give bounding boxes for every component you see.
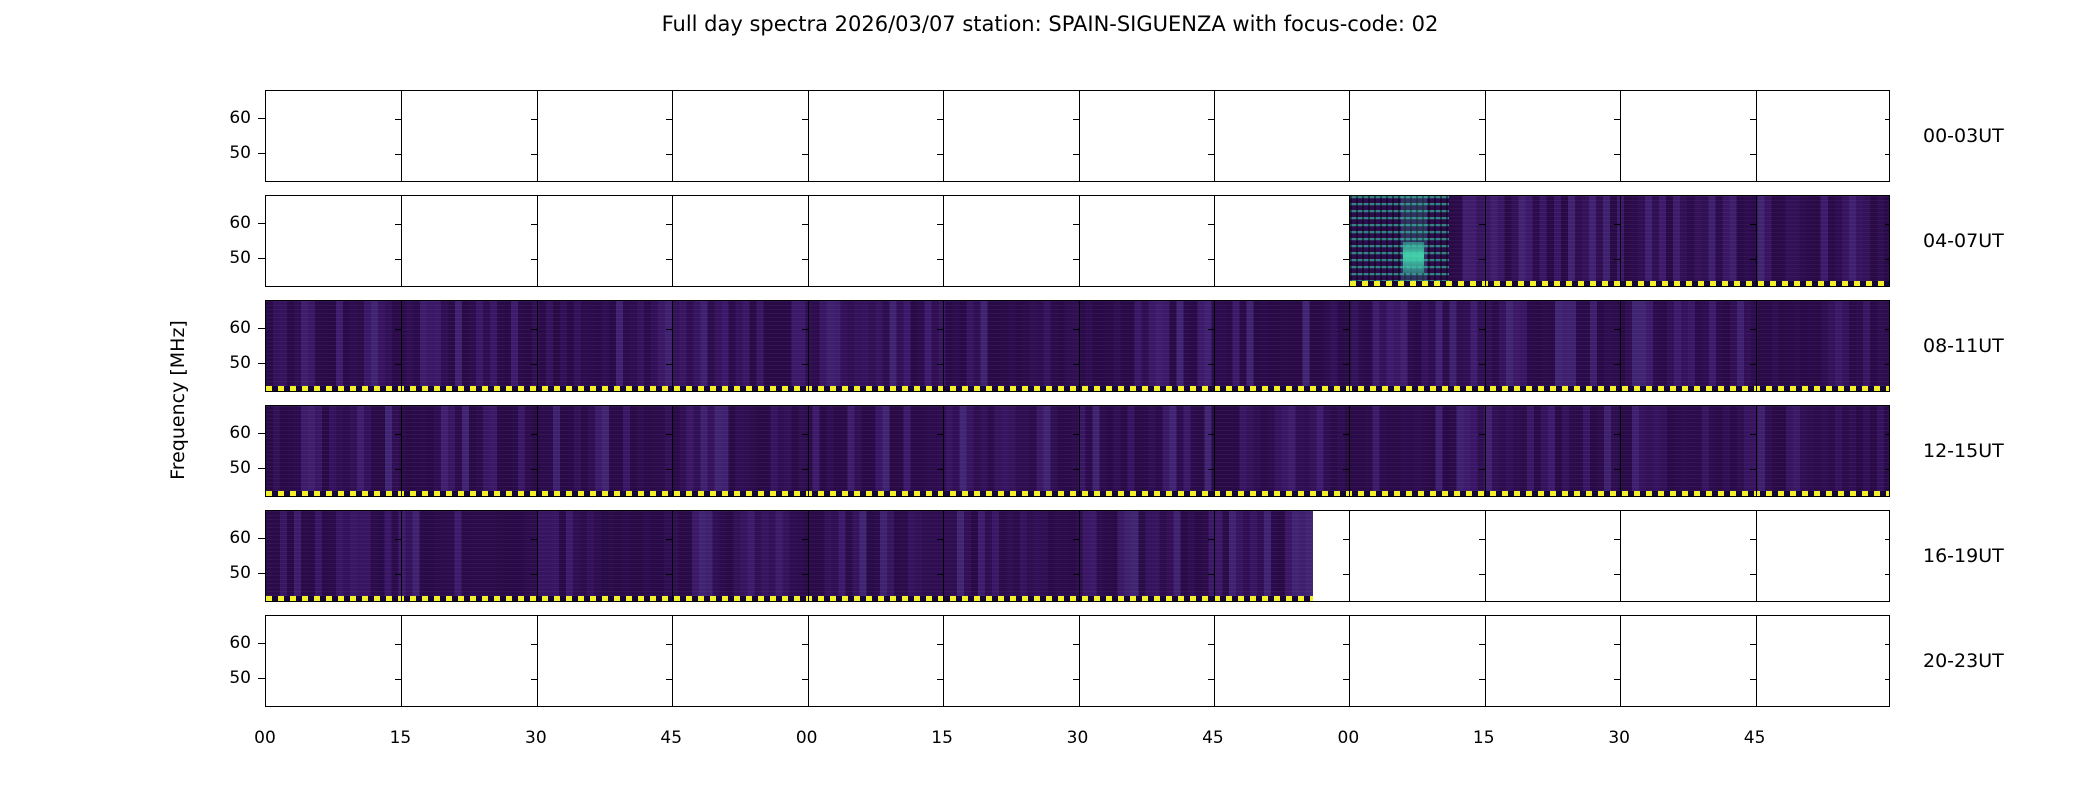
y-tick-mark xyxy=(666,574,672,575)
subpanel-divider xyxy=(808,91,809,182)
y-tick-mark xyxy=(1479,574,1485,575)
x-tick-label: 15 xyxy=(1473,728,1495,748)
y-tick-mark xyxy=(1479,154,1485,155)
row-frame xyxy=(265,510,1890,602)
y-tick-mark xyxy=(1614,469,1620,470)
y-tick-mark xyxy=(531,259,537,260)
x-tick-label: 15 xyxy=(390,728,412,748)
y-tick-mark xyxy=(1885,434,1890,435)
spectrogram-row-00-03ut[interactable] xyxy=(265,90,1890,182)
x-tick-label: 15 xyxy=(931,728,953,748)
spectrogram-row-16-19ut[interactable] xyxy=(265,510,1890,602)
y-tick-mark xyxy=(937,434,943,435)
y-tick-mark xyxy=(666,259,672,260)
subpanel-divider xyxy=(672,301,673,392)
y-tick-label: 60 xyxy=(203,108,251,128)
page-title: Full day spectra 2026/03/07 station: SPA… xyxy=(0,12,2100,36)
subpanel-divider xyxy=(1079,511,1080,602)
subpanel-divider xyxy=(401,511,402,602)
y-tick-mark xyxy=(802,329,808,330)
row-label-12-15ut: 12-15UT xyxy=(1923,440,2004,462)
y-tick-mark xyxy=(395,644,401,645)
subpanel-divider xyxy=(1349,406,1350,497)
spectrogram-row-12-15ut[interactable] xyxy=(265,405,1890,497)
y-tick-mark xyxy=(1750,224,1756,225)
y-tick-mark xyxy=(666,224,672,225)
y-tick-mark xyxy=(1073,539,1079,540)
y-tick-mark xyxy=(802,539,808,540)
y-tick-mark xyxy=(1479,259,1485,260)
row-frame xyxy=(265,90,1890,182)
x-tick-label: 00 xyxy=(796,728,818,748)
y-tick-mark xyxy=(1885,119,1890,120)
y-tick-mark xyxy=(395,539,401,540)
plot-area xyxy=(265,90,1890,720)
y-tick-mark xyxy=(802,259,808,260)
subpanel-divider xyxy=(808,616,809,707)
subpanel-divider xyxy=(672,511,673,602)
x-tick-label: 45 xyxy=(1202,728,1224,748)
subpanel-divider xyxy=(1349,91,1350,182)
x-tick-label: 45 xyxy=(660,728,682,748)
y-tick-mark xyxy=(1343,259,1349,260)
y-tick-mark xyxy=(1208,539,1214,540)
subpanel-divider xyxy=(401,616,402,707)
subpanel-divider xyxy=(1079,91,1080,182)
y-tick-mark xyxy=(937,224,943,225)
y-tick-mark xyxy=(1479,539,1485,540)
subpanel-divider xyxy=(1214,616,1215,707)
row-label-20-23ut: 20-23UT xyxy=(1923,650,2004,672)
y-tick-mark xyxy=(395,434,401,435)
subpanel-divider xyxy=(1079,406,1080,497)
subpanel-divider xyxy=(672,196,673,287)
y-tick-mark xyxy=(937,259,943,260)
y-tick-mark xyxy=(1614,539,1620,540)
y-tick-mark xyxy=(1208,364,1214,365)
y-tick-label: 50 xyxy=(203,248,251,268)
subpanel-divider xyxy=(808,196,809,287)
y-tick-mark xyxy=(531,469,537,470)
subpanel-divider xyxy=(1485,616,1486,707)
y-tick-mark xyxy=(1073,574,1079,575)
y-tick-mark xyxy=(1750,119,1756,120)
y-tick-mark xyxy=(1343,679,1349,680)
y-tick-mark xyxy=(1885,154,1890,155)
quality-dash-strip xyxy=(266,596,1313,602)
subpanel-divider xyxy=(1349,196,1350,287)
y-tick-mark xyxy=(531,679,537,680)
subpanel-divider xyxy=(1349,616,1350,707)
subpanel-divider xyxy=(1756,616,1757,707)
x-tick-label: 30 xyxy=(1067,728,1089,748)
y-tick-mark xyxy=(1750,329,1756,330)
y-tick-mark xyxy=(395,154,401,155)
y-tick-mark xyxy=(1750,574,1756,575)
y-tick-mark xyxy=(1073,679,1079,680)
emission-column-highlight xyxy=(1401,196,1427,287)
x-tick-label: 45 xyxy=(1744,728,1766,748)
y-tick-mark xyxy=(1750,154,1756,155)
y-tick-mark xyxy=(1750,679,1756,680)
x-tick-label: 00 xyxy=(1338,728,1360,748)
subpanel-divider xyxy=(1079,301,1080,392)
y-tick-mark xyxy=(395,679,401,680)
y-tick-mark xyxy=(1343,119,1349,120)
y-tick-mark xyxy=(1479,329,1485,330)
row-label-16-19ut: 16-19UT xyxy=(1923,545,2004,567)
y-tick-mark xyxy=(1614,644,1620,645)
row-label-08-11ut: 08-11UT xyxy=(1923,335,2004,357)
y-tick-label: 50 xyxy=(203,143,251,163)
y-tick-mark xyxy=(531,644,537,645)
y-tick-mark xyxy=(531,119,537,120)
y-tick-mark xyxy=(1750,434,1756,435)
y-tick-mark xyxy=(666,329,672,330)
y-tick-mark xyxy=(1343,224,1349,225)
y-tick-mark-outer xyxy=(258,223,265,224)
subpanel-divider xyxy=(943,406,944,497)
y-tick-mark xyxy=(1885,644,1890,645)
y-tick-mark xyxy=(1479,364,1485,365)
y-tick-mark xyxy=(937,154,943,155)
y-tick-mark xyxy=(802,469,808,470)
y-tick-label: 60 xyxy=(203,213,251,233)
y-tick-mark xyxy=(802,364,808,365)
subpanel-divider xyxy=(401,196,402,287)
y-tick-mark xyxy=(1750,364,1756,365)
y-tick-mark xyxy=(1614,154,1620,155)
row-label-04-07ut: 04-07UT xyxy=(1923,230,2004,252)
y-tick-mark xyxy=(937,574,943,575)
y-axis-label-text: Frequency [MHz] xyxy=(167,320,189,480)
subpanel-divider xyxy=(808,406,809,497)
y-tick-mark xyxy=(395,469,401,470)
y-tick-mark-outer xyxy=(258,468,265,469)
row-label-00-03ut: 00-03UT xyxy=(1923,125,2004,147)
y-tick-mark-outer xyxy=(258,328,265,329)
y-tick-mark xyxy=(1073,329,1079,330)
subpanel-divider xyxy=(1756,406,1757,497)
row-frame xyxy=(265,615,1890,707)
y-tick-mark xyxy=(1343,469,1349,470)
y-tick-mark xyxy=(666,539,672,540)
y-tick-mark xyxy=(802,434,808,435)
subpanel-divider xyxy=(808,511,809,602)
y-tick-mark xyxy=(395,259,401,260)
y-tick-mark xyxy=(1614,329,1620,330)
y-tick-mark xyxy=(937,539,943,540)
subpanel-divider xyxy=(672,91,673,182)
y-tick-mark xyxy=(1750,259,1756,260)
y-tick-mark-outer xyxy=(258,363,265,364)
y-tick-mark xyxy=(1073,154,1079,155)
subpanel-divider xyxy=(1214,301,1215,392)
subpanel-divider xyxy=(1620,196,1621,287)
y-tick-label: 60 xyxy=(203,528,251,548)
y-tick-mark xyxy=(1208,574,1214,575)
y-tick-mark xyxy=(1479,679,1485,680)
y-tick-mark xyxy=(1343,644,1349,645)
y-tick-mark xyxy=(395,364,401,365)
subpanel-divider xyxy=(1620,91,1621,182)
y-tick-mark xyxy=(531,574,537,575)
subpanel-divider xyxy=(943,511,944,602)
y-tick-mark xyxy=(1208,679,1214,680)
y-tick-mark-outer xyxy=(258,118,265,119)
y-tick-mark xyxy=(1343,329,1349,330)
subpanel-divider xyxy=(401,406,402,497)
y-tick-mark xyxy=(666,154,672,155)
y-tick-mark xyxy=(1614,679,1620,680)
subpanel-divider xyxy=(1079,616,1080,707)
subpanel-divider xyxy=(1214,511,1215,602)
y-tick-mark xyxy=(1614,259,1620,260)
y-tick-mark xyxy=(1885,574,1890,575)
interference-texture-block xyxy=(1350,196,1449,287)
subpanel-divider xyxy=(537,616,538,707)
y-tick-mark xyxy=(1073,119,1079,120)
x-tick-label: 00 xyxy=(254,728,276,748)
y-tick-mark xyxy=(1750,539,1756,540)
y-tick-mark xyxy=(1479,119,1485,120)
subpanel-divider xyxy=(1620,616,1621,707)
y-tick-mark xyxy=(1208,469,1214,470)
spectrogram-horizontal-banding xyxy=(266,511,1313,602)
y-tick-mark xyxy=(1208,224,1214,225)
y-tick-mark xyxy=(937,469,943,470)
y-tick-mark xyxy=(1885,539,1890,540)
y-tick-mark xyxy=(1073,259,1079,260)
row-frame xyxy=(265,300,1890,392)
y-tick-mark xyxy=(395,574,401,575)
subpanel-divider xyxy=(537,196,538,287)
y-tick-mark xyxy=(531,154,537,155)
y-tick-mark xyxy=(1750,644,1756,645)
spectrogram-row-20-23ut[interactable] xyxy=(265,615,1890,707)
spectrogram-row-08-11ut[interactable] xyxy=(265,300,1890,392)
y-tick-mark xyxy=(395,329,401,330)
subpanel-divider xyxy=(1756,511,1757,602)
y-tick-mark xyxy=(802,224,808,225)
subpanel-divider xyxy=(672,616,673,707)
y-tick-mark xyxy=(1614,574,1620,575)
y-tick-mark xyxy=(802,154,808,155)
subpanel-divider xyxy=(943,301,944,392)
y-tick-mark xyxy=(395,224,401,225)
y-tick-label: 60 xyxy=(203,633,251,653)
subpanel-divider xyxy=(808,301,809,392)
y-tick-mark xyxy=(1073,224,1079,225)
row-frame xyxy=(265,195,1890,287)
y-tick-mark xyxy=(395,119,401,120)
subpanel-divider xyxy=(1349,511,1350,602)
y-tick-mark xyxy=(937,364,943,365)
subpanel-divider xyxy=(1079,196,1080,287)
y-tick-mark-outer xyxy=(258,258,265,259)
y-tick-mark xyxy=(1614,364,1620,365)
y-tick-mark xyxy=(1885,469,1890,470)
y-tick-mark xyxy=(666,119,672,120)
y-tick-label: 50 xyxy=(203,353,251,373)
y-tick-mark xyxy=(802,119,808,120)
y-tick-mark xyxy=(1073,364,1079,365)
subpanel-divider xyxy=(537,511,538,602)
interference-vertical-stripes xyxy=(1350,196,1449,287)
y-tick-mark xyxy=(1208,434,1214,435)
y-tick-mark xyxy=(1885,679,1890,680)
y-tick-mark xyxy=(1208,119,1214,120)
y-tick-mark-outer xyxy=(258,573,265,574)
y-tick-mark xyxy=(1073,644,1079,645)
y-tick-mark xyxy=(937,119,943,120)
x-tick-label: 30 xyxy=(525,728,547,748)
y-tick-mark xyxy=(1750,469,1756,470)
subpanel-divider xyxy=(1620,406,1621,497)
subpanel-divider xyxy=(537,301,538,392)
y-tick-mark xyxy=(802,644,808,645)
subpanel-divider xyxy=(1756,196,1757,287)
y-tick-mark xyxy=(937,679,943,680)
y-tick-label: 50 xyxy=(203,458,251,478)
y-tick-mark xyxy=(531,539,537,540)
spectrogram-figure: Full day spectra 2026/03/07 station: SPA… xyxy=(0,0,2100,800)
subpanel-divider xyxy=(1620,301,1621,392)
y-tick-mark xyxy=(531,329,537,330)
subpanel-divider xyxy=(1756,301,1757,392)
y-tick-mark xyxy=(1208,329,1214,330)
subpanel-divider xyxy=(943,91,944,182)
subpanel-divider xyxy=(1214,91,1215,182)
subpanel-divider xyxy=(1485,406,1486,497)
y-tick-mark xyxy=(531,434,537,435)
y-tick-mark xyxy=(1343,539,1349,540)
y-tick-mark xyxy=(531,224,537,225)
y-tick-mark xyxy=(666,364,672,365)
subpanel-divider xyxy=(1485,196,1486,287)
y-tick-mark xyxy=(1614,224,1620,225)
subpanel-divider xyxy=(1214,196,1215,287)
subpanel-divider xyxy=(1349,301,1350,392)
y-tick-mark xyxy=(666,434,672,435)
y-tick-mark xyxy=(1073,469,1079,470)
y-tick-mark xyxy=(1614,434,1620,435)
y-tick-mark xyxy=(1343,434,1349,435)
row-frame xyxy=(265,405,1890,497)
y-tick-mark xyxy=(1479,434,1485,435)
subpanel-divider xyxy=(537,91,538,182)
y-tick-label: 60 xyxy=(203,318,251,338)
y-tick-mark-outer xyxy=(258,678,265,679)
subpanel-divider xyxy=(401,301,402,392)
y-tick-label: 50 xyxy=(203,668,251,688)
subpanel-divider xyxy=(672,406,673,497)
y-tick-mark xyxy=(937,329,943,330)
subpanel-divider xyxy=(1485,91,1486,182)
y-tick-mark xyxy=(1208,644,1214,645)
y-tick-mark xyxy=(1885,364,1890,365)
y-tick-mark xyxy=(1885,224,1890,225)
y-tick-mark xyxy=(666,469,672,470)
x-tick-label: 30 xyxy=(1608,728,1630,748)
subpanel-divider xyxy=(943,196,944,287)
y-tick-mark xyxy=(666,679,672,680)
y-tick-mark-outer xyxy=(258,643,265,644)
y-tick-mark xyxy=(937,644,943,645)
spectrogram-row-04-07ut[interactable] xyxy=(265,195,1890,287)
y-tick-mark xyxy=(1208,259,1214,260)
subpanel-divider xyxy=(1214,406,1215,497)
y-tick-mark-outer xyxy=(258,538,265,539)
y-tick-label: 60 xyxy=(203,423,251,443)
y-tick-mark xyxy=(1885,329,1890,330)
y-tick-mark xyxy=(1479,224,1485,225)
y-tick-mark xyxy=(802,574,808,575)
subpanel-divider xyxy=(1756,91,1757,182)
y-tick-mark-outer xyxy=(258,153,265,154)
y-tick-mark xyxy=(1343,364,1349,365)
subpanel-divider xyxy=(1485,301,1486,392)
y-tick-mark xyxy=(1479,644,1485,645)
y-tick-mark xyxy=(1073,434,1079,435)
y-tick-label: 50 xyxy=(203,563,251,583)
y-tick-mark xyxy=(1343,574,1349,575)
spectrogram-data xyxy=(266,511,1313,602)
y-tick-mark-outer xyxy=(258,433,265,434)
y-tick-mark xyxy=(802,679,808,680)
subpanel-divider xyxy=(1485,511,1486,602)
y-tick-mark xyxy=(1479,469,1485,470)
subpanel-divider xyxy=(401,91,402,182)
y-tick-mark xyxy=(1614,119,1620,120)
y-tick-mark xyxy=(1208,154,1214,155)
y-tick-mark xyxy=(1343,154,1349,155)
subpanel-divider xyxy=(943,616,944,707)
subpanel-divider xyxy=(537,406,538,497)
subpanel-divider xyxy=(1620,511,1621,602)
y-tick-mark xyxy=(666,644,672,645)
y-tick-mark xyxy=(1885,259,1890,260)
y-tick-mark xyxy=(531,364,537,365)
